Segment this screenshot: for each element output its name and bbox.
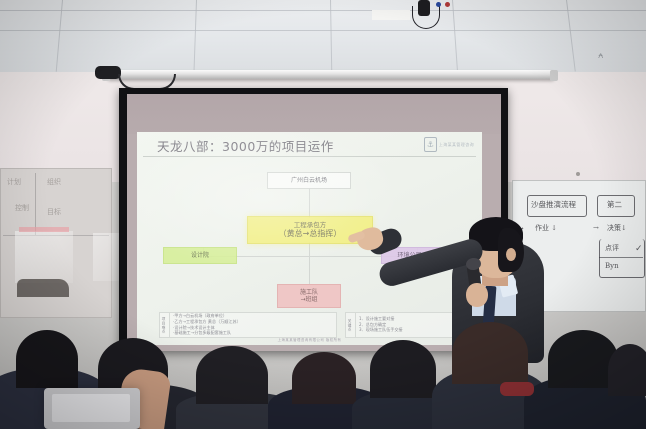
panel-difficulties-body: ·甲方→白云机场（政府单位） ·乙方→工程承包方 黄总（万顺江苏） ·设计院→技… [170, 313, 336, 337]
screen-upper-band [127, 94, 501, 134]
connector [309, 256, 310, 284]
company-logo: ⚓ 上海某某管理咨询 [424, 137, 474, 152]
left-board-note: 计划 [7, 179, 21, 186]
presentation-room-photo: ⍲ 计划 组织 控制 目标 沙盘推演流程 第二 → 作业 ↓ → 决策↓ 点评 … [0, 0, 646, 429]
panel-difficulties-tab: 项目难点 [160, 313, 170, 337]
whiteboard-note-right: 点评 [605, 245, 619, 252]
diagram-node-left: 设计院 [163, 247, 237, 264]
audience-scarf [500, 382, 534, 396]
left-whiteboard: 计划 组织 控制 目标 [0, 168, 112, 318]
ceiling-tile-line [0, 30, 646, 31]
diagram-node-main-line1: 工程承包方 [294, 221, 327, 229]
left-board-divider [35, 173, 36, 235]
diagram-node-bottom-line2: →班组 [300, 296, 317, 304]
panel-line: ·基础施工→分包多级配套施工队 [173, 331, 334, 336]
connector [309, 188, 310, 218]
diagram-node-bottom: 施工队 →班组 [277, 284, 341, 308]
camera-viewfinder [52, 394, 130, 422]
whiteboard-box-left-text: 沙盘推演流程 [531, 201, 576, 209]
roller-end-cap [550, 70, 558, 81]
panel-key-points-tab: 关键点 [346, 313, 356, 337]
panel-key-points: 关键点 1．设计施工要对接 2．总包方确定 3．现场施工队伍手交接 [345, 312, 463, 338]
audience-head [608, 344, 646, 396]
audience-head [452, 322, 528, 384]
anchor-icon: ⚓ [424, 137, 437, 152]
panel-line: ·甲方→白云机场（政府单位） [173, 314, 334, 319]
ceiling-label [372, 10, 410, 20]
slide-title-rule [143, 156, 476, 157]
audience-head [292, 352, 356, 404]
audience-head [16, 330, 78, 388]
projection-screen: 天龙八部：3000万的项目运作 ⚓ 上海某某管理咨询 广州白云机场 工程承包方 … [119, 88, 508, 351]
ceiling-fixture-dot [445, 2, 450, 7]
panel-line: ·乙方→工程承包方 黄总（万顺江苏） [173, 320, 334, 325]
whiteboard-note-left: 作业 ↓ [535, 225, 557, 232]
panel-line: 1．设计施工要对接 [359, 317, 460, 322]
left-board-note: 目标 [47, 209, 61, 216]
whiteboard-note-right: Byn [605, 263, 619, 270]
presenter-mic-hand [466, 283, 488, 307]
screen-surface: 天龙八部：3000万的项目运作 ⚓ 上海某某管理咨询 广州白云机场 工程承包方 … [127, 94, 501, 351]
window-reflection [15, 231, 73, 283]
ceiling-fixture-dot [436, 2, 441, 7]
whiteboard-box-right-text: 第二 [607, 201, 622, 209]
roller-motor-housing [95, 66, 121, 79]
panel-line: 3．现场施工队伍手交接 [359, 328, 460, 333]
panel-difficulties: 项目难点 ·甲方→白云机场（政府单位） ·乙方→工程承包方 黄总（万顺江苏） ·… [159, 312, 337, 338]
whiteboard-divider [599, 257, 643, 258]
whiteboard-arrow-icon: → [593, 225, 599, 232]
presenter-ear [506, 248, 516, 261]
wall-screw [576, 172, 580, 176]
slide-title: 天龙八部：3000万的项目运作 [157, 136, 334, 155]
panel-key-points-body: 1．设计施工要对接 2．总包方确定 3．现场施工队伍手交接 [356, 313, 462, 337]
reflection-vehicle [17, 279, 69, 297]
audience-head [196, 346, 268, 404]
diagram-node-root: 广州白云机场 [267, 172, 351, 189]
reflection-banner [19, 227, 69, 232]
slide-footer: 上海某某管理咨询有限公司 版权所有 [137, 337, 482, 342]
audience-head [370, 340, 436, 398]
diagram-node-main-line2: （黄总→总指挥） [279, 229, 342, 239]
left-board-note: 组织 [47, 179, 61, 186]
ceiling-tile-line [0, 10, 646, 11]
camera-device [44, 388, 140, 429]
ceiling-hook-icon: ⍲ [598, 52, 603, 61]
checkmark-icon: ✓ [635, 245, 643, 254]
left-board-note: 控制 [15, 205, 29, 212]
slide-content: 天龙八部：3000万的项目运作 ⚓ 上海某某管理咨询 广州白云机场 工程承包方 … [137, 132, 482, 345]
diagram-node-bottom-line1: 施工队 [300, 289, 318, 297]
logo-text: 上海某某管理咨询 [439, 142, 474, 148]
whiteboard-note-right: 决策↓ [607, 225, 627, 232]
